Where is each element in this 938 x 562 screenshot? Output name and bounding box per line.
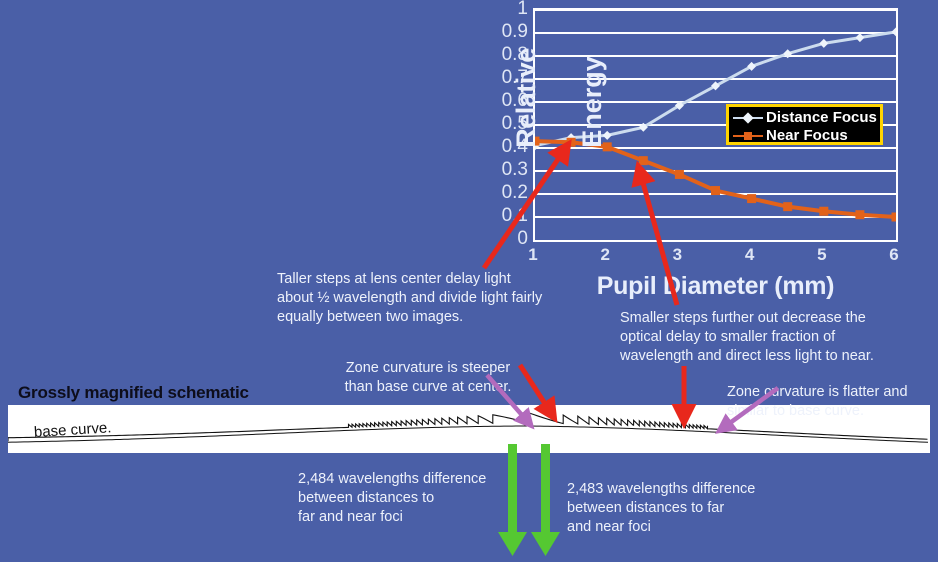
x-tick-label: 4 [745,246,754,263]
data-point-marker [711,186,720,195]
note-wavelengths-right: 2,483 wavelengths difference between dis… [567,480,792,537]
x-tick-label: 6 [889,246,898,263]
data-point-marker [892,27,897,36]
data-point-marker [855,33,864,42]
x-axis-title: Pupil Diameter (mm) [533,272,898,301]
data-point-marker [567,138,576,147]
data-point-marker [855,210,864,219]
legend-label-distance-focus: Distance Focus [766,110,877,126]
note-wavelengths-left: 2,484 wavelengths difference between dis… [298,470,513,527]
x-tick-label: 2 [600,246,609,263]
note-taller-steps: Taller steps at lens center delay light … [277,270,582,327]
y-tick-label: 0 [517,229,528,248]
y-axis-title-line-1: Relative [511,23,541,173]
schematic-title: Grossly magnified schematic [18,383,249,403]
near-focus-swatch-icon [733,130,763,142]
y-tick-label: 0.1 [502,206,528,225]
note-zone-steeper: Zone curvature is steeper than base curv… [323,359,533,397]
legend-item-distance-focus: Distance Focus [733,109,877,126]
note-smaller-steps: Smaller steps further out decrease the o… [620,309,915,366]
y-axis-title-line-2: Energy [577,56,607,148]
x-tick-label: 5 [817,246,826,263]
note-zone-flatter: Zone curvature is flatter and similar to… [727,383,932,421]
x-tick-label: 1 [528,246,537,263]
green-arrow-right [531,444,560,556]
base-curve-line [8,426,928,442]
data-point-marker [639,156,648,165]
energy-chart: 10.90.80.70.60.50.40.30.20.10 123456 Rel… [470,0,938,305]
data-point-marker [783,202,792,211]
y-tick-label: 0.2 [502,183,528,202]
x-tick-label: 3 [673,246,682,263]
distance-focus-swatch-icon [733,112,763,124]
legend-label-near-focus: Near Focus [766,128,848,144]
data-point-marker [675,170,684,179]
data-point-marker [819,39,828,48]
data-point-marker [783,49,792,58]
y-axis-title: Relative [511,23,551,173]
data-point-marker [819,207,828,216]
chart-legend: Distance Focus Near Focus [726,104,883,145]
data-point-marker [747,194,756,203]
y-tick-label: 1 [517,0,528,18]
x-axis-tick-labels: 123456 [533,246,898,270]
y-axis-title-second-line: Energy [577,27,611,177]
legend-item-near-focus: Near Focus [733,127,877,144]
data-point-marker [892,213,897,222]
